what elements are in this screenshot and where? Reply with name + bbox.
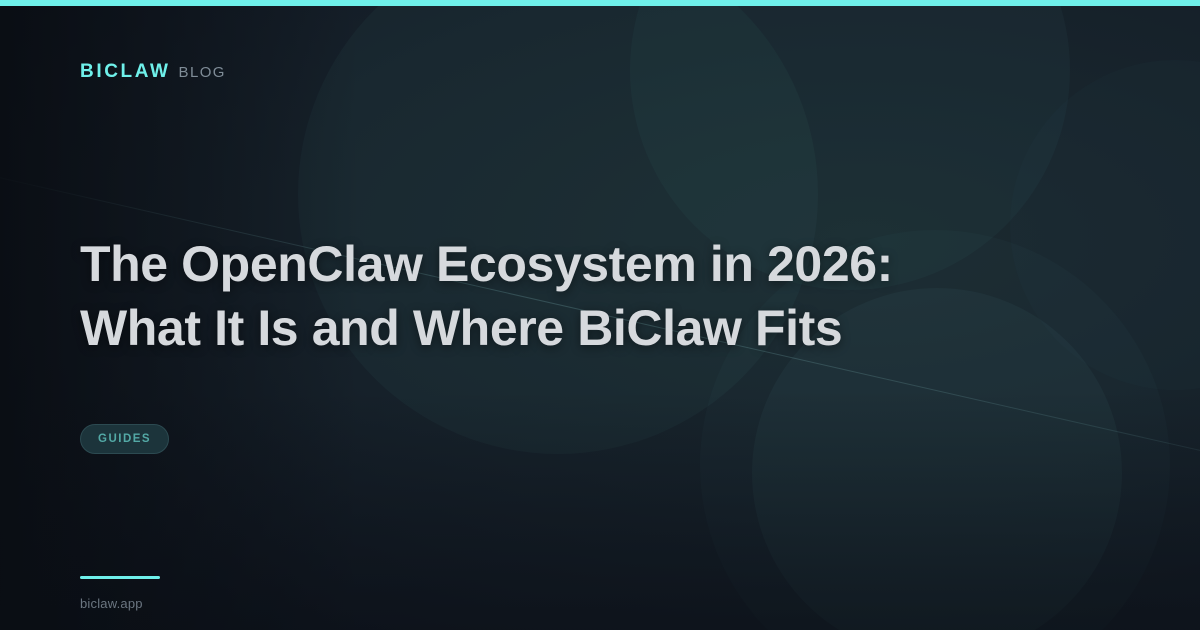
brand-logo[interactable]: BICLAW BLOG xyxy=(80,62,226,81)
category-badge[interactable]: GUIDES xyxy=(80,424,169,454)
brand-suffix: BLOG xyxy=(179,65,226,80)
blog-og-card: BICLAW BLOG The OpenClaw Ecosystem in 20… xyxy=(0,0,1200,630)
site-url: biclaw.app xyxy=(80,597,160,610)
page-title: The OpenClaw Ecosystem in 2026: What It … xyxy=(80,232,980,360)
brand-name: BICLAW xyxy=(80,62,171,81)
card-content: BICLAW BLOG The OpenClaw Ecosystem in 20… xyxy=(0,0,1200,630)
accent-rule xyxy=(80,576,160,579)
card-footer: biclaw.app xyxy=(80,576,160,610)
